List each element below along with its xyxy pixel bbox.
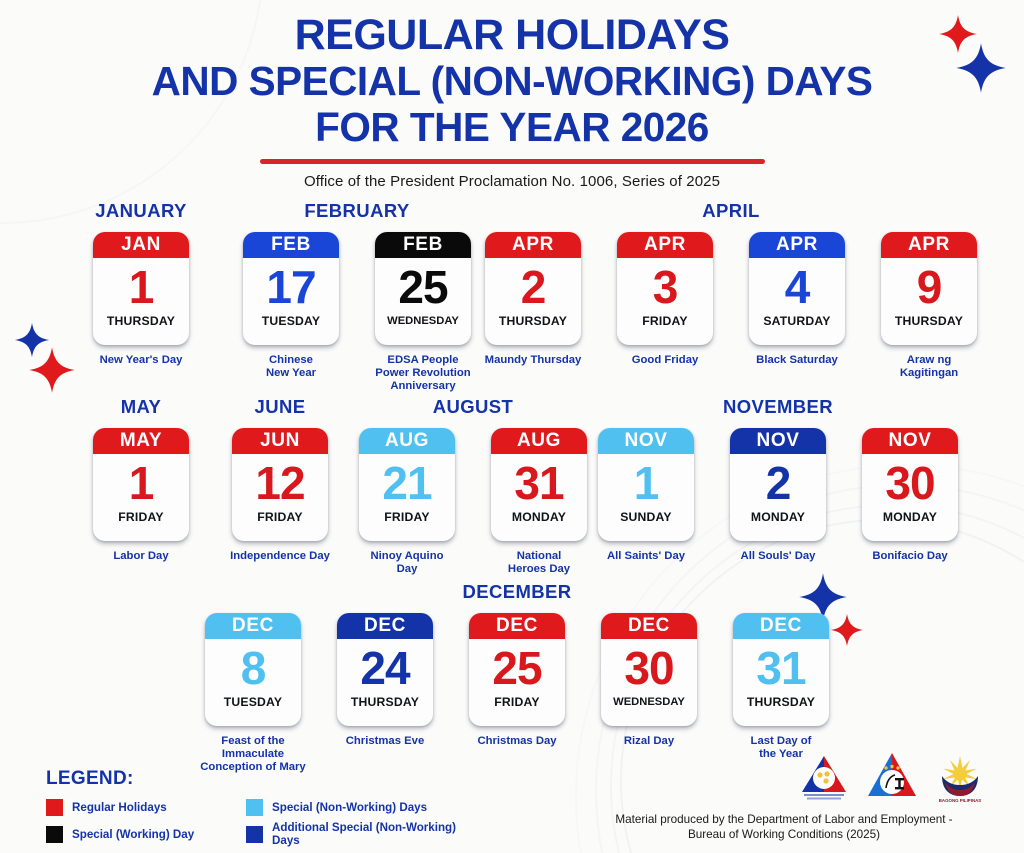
card-day-number: 25 <box>375 258 471 314</box>
month-group-may: MAYMAY1FRIDAYLabor Day <box>86 396 196 563</box>
card-month-abbr: AUG <box>491 428 587 454</box>
holiday-entry: DEC8TUESDAYFeast of theImmaculateConcept… <box>194 613 312 774</box>
holiday-caption: Ninoy AquinoDay <box>348 550 466 576</box>
card-list: MAY1FRIDAYLabor Day <box>86 428 196 563</box>
legend-swatch <box>246 799 263 816</box>
card-weekday: FRIDAY <box>617 314 713 345</box>
holiday-caption: Christmas Day <box>458 735 576 748</box>
card-month-abbr: AUG <box>359 428 455 454</box>
card-weekday: SATURDAY <box>749 314 845 345</box>
card-weekday: THURSDAY <box>485 314 581 345</box>
holiday-entry: APR3FRIDAYGood Friday <box>606 232 724 380</box>
card-day-number: 24 <box>337 639 433 695</box>
calendar-card: JUN12FRIDAY <box>232 428 328 541</box>
card-month-abbr: JUN <box>232 428 328 454</box>
card-month-abbr: FEB <box>243 232 339 258</box>
bagong-pilipinas-logo: BAGONG PILIPINAS <box>932 748 988 804</box>
holiday-caption: Good Friday <box>606 354 724 367</box>
card-weekday: MONDAY <box>491 510 587 541</box>
month-label: DECEMBER <box>242 581 792 603</box>
card-month-abbr: DEC <box>337 613 433 639</box>
card-day-number: 2 <box>730 454 826 510</box>
card-month-abbr: DEC <box>469 613 565 639</box>
card-list: JAN1THURSDAYNew Year's Day <box>86 232 196 367</box>
sparkle-blue-left-icon <box>14 322 50 358</box>
calendar-card: NOV2MONDAY <box>730 428 826 541</box>
calendar-card: DEC8TUESDAY <box>205 613 301 726</box>
card-month-abbr: NOV <box>730 428 826 454</box>
card-weekday: FRIDAY <box>469 695 565 726</box>
legend-label: Special (Non-Working) Days <box>272 801 427 814</box>
holiday-entry: DEC25FRIDAYChristmas Day <box>458 613 576 774</box>
holiday-entry: AUG21FRIDAYNinoy AquinoDay <box>348 428 466 576</box>
card-month-abbr: DEC <box>601 613 697 639</box>
calendar-card: APR3FRIDAY <box>617 232 713 345</box>
title-line-2: AND SPECIAL (NON-WORKING) DAYS <box>0 58 1024 104</box>
calendar-card: DEC31THURSDAY <box>733 613 829 726</box>
card-day-number: 2 <box>485 258 581 314</box>
holiday-entry: APR2THURSDAYMaundy Thursday <box>474 232 592 380</box>
holiday-caption: Maundy Thursday <box>474 354 592 367</box>
legend-item: Additional Special (Non-Working) Days <box>246 821 486 847</box>
card-weekday: THURSDAY <box>733 695 829 726</box>
card-month-abbr: NOV <box>862 428 958 454</box>
month-label: MAY <box>86 396 196 418</box>
holiday-caption: Labor Day <box>82 550 200 563</box>
month-group-june: JUNEJUN12FRIDAYIndependence Day <box>225 396 335 563</box>
holiday-entry: FEB17TUESDAYChineseNew Year <box>232 232 350 393</box>
card-list: NOV1SUNDAYAll Saints' DayNOV2MONDAYAll S… <box>613 428 943 563</box>
bwc-logo <box>864 748 920 804</box>
calendar-card: JAN1THURSDAY <box>93 232 189 345</box>
proclamation-subtitle: Office of the President Proclamation No.… <box>0 173 1024 190</box>
calendar-card: FEB25WEDNESDAY <box>375 232 471 345</box>
month-label: APRIL <box>511 200 951 222</box>
calendar-card: APR2THURSDAY <box>485 232 581 345</box>
card-month-abbr: MAY <box>93 428 189 454</box>
calendar-card: AUG31MONDAY <box>491 428 587 541</box>
card-month-abbr: DEC <box>733 613 829 639</box>
card-list: FEB17TUESDAYChineseNew YearFEB25WEDNESDA… <box>247 232 467 393</box>
month-label: NOVEMBER <box>613 396 943 418</box>
holiday-caption: Araw ngKagitingan <box>870 354 988 380</box>
card-list: APR2THURSDAYMaundy ThursdayAPR3FRIDAYGoo… <box>511 232 951 380</box>
holiday-caption: All Souls' Day <box>719 550 837 563</box>
card-weekday: WEDNESDAY <box>601 695 697 726</box>
card-day-number: 1 <box>93 454 189 510</box>
credit-line-2: Bureau of Working Conditions (2025) <box>574 827 994 842</box>
holiday-entry: APR9THURSDAYAraw ngKagitingan <box>870 232 988 380</box>
legend-label: Additional Special (Non-Working) Days <box>272 821 486 847</box>
card-weekday: TUESDAY <box>243 314 339 345</box>
card-day-number: 30 <box>862 454 958 510</box>
holiday-entry: JAN1THURSDAYNew Year's Day <box>82 232 200 367</box>
card-month-abbr: APR <box>485 232 581 258</box>
month-group-november: NOVEMBERNOV1SUNDAYAll Saints' DayNOV2MON… <box>613 396 943 563</box>
calendar-card: AUG21FRIDAY <box>359 428 455 541</box>
holiday-entry: NOV2MONDAYAll Souls' Day <box>719 428 837 563</box>
calendar-card: DEC24THURSDAY <box>337 613 433 726</box>
credit-line-1: Material produced by the Department of L… <box>574 812 994 827</box>
month-group-january: JANUARYJAN1THURSDAYNew Year's Day <box>86 200 196 367</box>
month-label: AUGUST <box>363 396 583 418</box>
holiday-caption: ChineseNew Year <box>232 354 350 380</box>
legend-items: Regular HolidaysSpecial (Non-Working) Da… <box>46 799 486 847</box>
card-weekday: THURSDAY <box>93 314 189 345</box>
card-weekday: FRIDAY <box>232 510 328 541</box>
card-month-abbr: NOV <box>598 428 694 454</box>
holiday-entry: MAY1FRIDAYLabor Day <box>82 428 200 563</box>
card-weekday: THURSDAY <box>337 695 433 726</box>
month-group-april: APRILAPR2THURSDAYMaundy ThursdayAPR3FRID… <box>511 200 951 380</box>
month-label: JUNE <box>225 396 335 418</box>
card-weekday: THURSDAY <box>881 314 977 345</box>
month-group-february: FEBRUARYFEB17TUESDAYChineseNew YearFEB25… <box>247 200 467 393</box>
holiday-caption: Black Saturday <box>738 354 856 367</box>
card-month-abbr: FEB <box>375 232 471 258</box>
holiday-entry: AUG31MONDAYNationalHeroes Day <box>480 428 598 576</box>
legend-swatch <box>46 799 63 816</box>
month-label: JANUARY <box>86 200 196 222</box>
month-label: FEBRUARY <box>247 200 467 222</box>
card-day-number: 1 <box>93 258 189 314</box>
title-line-3: FOR THE YEAR 2026 <box>0 104 1024 150</box>
page-header: REGULAR HOLIDAYS AND SPECIAL (NON-WORKIN… <box>0 12 1024 190</box>
legend-label: Special (Working) Day <box>72 828 194 841</box>
card-day-number: 4 <box>749 258 845 314</box>
card-weekday: FRIDAY <box>93 510 189 541</box>
card-month-abbr: DEC <box>205 613 301 639</box>
legend: LEGEND: Regular HolidaysSpecial (Non-Wor… <box>46 768 486 847</box>
calendar-card: APR9THURSDAY <box>881 232 977 345</box>
card-month-abbr: JAN <box>93 232 189 258</box>
holiday-entry: DEC30WEDNESDAYRizal Day <box>590 613 708 774</box>
holiday-caption: NationalHeroes Day <box>480 550 598 576</box>
card-day-number: 1 <box>598 454 694 510</box>
holiday-caption: New Year's Day <box>82 354 200 367</box>
legend-swatch <box>46 826 63 843</box>
legend-title: LEGEND: <box>46 768 486 790</box>
holiday-caption: Rizal Day <box>590 735 708 748</box>
infographic-page: REGULAR HOLIDAYS AND SPECIAL (NON-WORKIN… <box>0 0 1024 853</box>
card-day-number: 31 <box>491 454 587 510</box>
card-weekday: WEDNESDAY <box>375 314 471 345</box>
legend-item: Special (Non-Working) Days <box>246 799 486 816</box>
card-weekday: TUESDAY <box>205 695 301 726</box>
legend-label: Regular Holidays <box>72 801 167 814</box>
card-list: DEC8TUESDAYFeast of theImmaculateConcept… <box>242 613 792 774</box>
card-weekday: SUNDAY <box>598 510 694 541</box>
sparkle-red-left-icon <box>28 346 76 394</box>
dole-logo <box>796 748 852 804</box>
card-day-number: 30 <box>601 639 697 695</box>
card-list: JUN12FRIDAYIndependence Day <box>225 428 335 563</box>
calendar-card: FEB17TUESDAY <box>243 232 339 345</box>
holiday-caption: EDSA PeoplePower RevolutionAnniversary <box>364 354 482 393</box>
card-weekday: FRIDAY <box>359 510 455 541</box>
calendar-card: DEC25FRIDAY <box>469 613 565 726</box>
svg-text:BAGONG PILIPINAS: BAGONG PILIPINAS <box>939 798 982 803</box>
card-day-number: 31 <box>733 639 829 695</box>
card-day-number: 12 <box>232 454 328 510</box>
legend-item: Special (Working) Day <box>46 821 246 847</box>
calendar-card: NOV30MONDAY <box>862 428 958 541</box>
card-month-abbr: APR <box>617 232 713 258</box>
card-day-number: 8 <box>205 639 301 695</box>
holiday-entry: NOV1SUNDAYAll Saints' Day <box>587 428 705 563</box>
page-title: REGULAR HOLIDAYS AND SPECIAL (NON-WORKIN… <box>0 12 1024 150</box>
footer-logos: BAGONG PILIPINAS <box>796 748 988 804</box>
holiday-entry: APR4SATURDAYBlack Saturday <box>738 232 856 380</box>
card-weekday: MONDAY <box>730 510 826 541</box>
card-day-number: 3 <box>617 258 713 314</box>
legend-swatch <box>246 826 263 843</box>
card-month-abbr: APR <box>749 232 845 258</box>
calendar-card: DEC30WEDNESDAY <box>601 613 697 726</box>
card-day-number: 9 <box>881 258 977 314</box>
title-underline <box>260 159 765 164</box>
calendar-card: MAY1FRIDAY <box>93 428 189 541</box>
holiday-caption: Bonifacio Day <box>851 550 969 563</box>
card-month-abbr: APR <box>881 232 977 258</box>
card-weekday: MONDAY <box>862 510 958 541</box>
holiday-caption: Christmas Eve <box>326 735 444 748</box>
card-day-number: 25 <box>469 639 565 695</box>
holiday-entry: DEC24THURSDAYChristmas Eve <box>326 613 444 774</box>
month-group-august: AUGUSTAUG21FRIDAYNinoy AquinoDayAUG31MON… <box>363 396 583 576</box>
holiday-entry: NOV30MONDAYBonifacio Day <box>851 428 969 563</box>
holiday-entry: JUN12FRIDAYIndependence Day <box>221 428 339 563</box>
holiday-entry: FEB25WEDNESDAYEDSA PeoplePower Revolutio… <box>364 232 482 393</box>
card-day-number: 21 <box>359 454 455 510</box>
title-line-1: REGULAR HOLIDAYS <box>0 12 1024 58</box>
legend-item: Regular Holidays <box>46 799 246 816</box>
holiday-caption: Independence Day <box>221 550 339 563</box>
credit-text: Material produced by the Department of L… <box>574 812 994 842</box>
calendar-card: APR4SATURDAY <box>749 232 845 345</box>
holiday-caption: All Saints' Day <box>587 550 705 563</box>
card-day-number: 17 <box>243 258 339 314</box>
calendar-card: NOV1SUNDAY <box>598 428 694 541</box>
month-group-december: DECEMBERDEC8TUESDAYFeast of theImmaculat… <box>242 581 792 774</box>
card-list: AUG21FRIDAYNinoy AquinoDayAUG31MONDAYNat… <box>363 428 583 576</box>
